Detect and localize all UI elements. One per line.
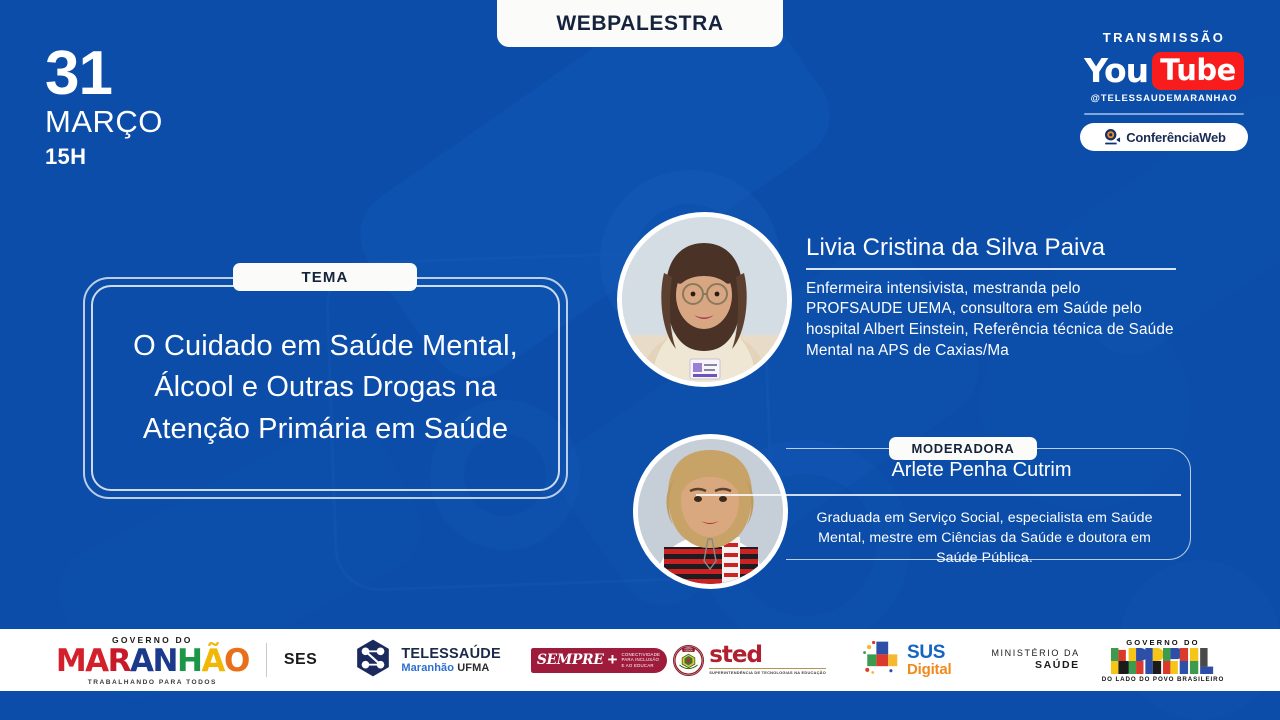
youtube-tube-text: Tube xyxy=(1160,53,1236,87)
theme-title: O Cuidado em Saúde Mental, Álcool e Outr… xyxy=(83,277,568,499)
speaker-photo-inner xyxy=(622,217,787,382)
youtube-you-text: You xyxy=(1084,51,1148,90)
uema-seal-icon: UEMA xyxy=(673,645,704,676)
speaker-info: Livia Cristina da Silva Paiva Enfermeira… xyxy=(806,234,1176,362)
date-hour: 15H xyxy=(45,142,163,172)
sted-underline xyxy=(709,668,826,669)
brasil-top-label: GOVERNO DO xyxy=(1126,638,1199,647)
moderator-divider xyxy=(696,494,1181,496)
sus-line2: Digital xyxy=(907,662,951,677)
transmission-divider xyxy=(1084,113,1244,115)
event-date: 31 MARÇO 15H xyxy=(45,45,163,171)
brasil-wordmark xyxy=(1111,647,1215,674)
sted-subtitle: SUPERINTENDÊNCIA DE TECNOLOGIAS NA EDUCA… xyxy=(709,670,826,675)
moderator-photo-inner xyxy=(638,439,783,584)
logo-telessaude: TELESSAÚDE Maranhão UFMA xyxy=(353,638,501,683)
theme-box: O Cuidado em Saúde Mental, Álcool e Outr… xyxy=(83,277,568,499)
transmission-label: TRANSMISSÃO xyxy=(1072,30,1256,45)
sus-cross-icon xyxy=(860,638,900,683)
sus-line1: SUS xyxy=(907,643,951,662)
webpalestra-label: WEBPALESTRA xyxy=(556,12,723,36)
speaker-bio: Enfermeira intensivista, mestranda pelo … xyxy=(806,279,1176,362)
footer-divider-1 xyxy=(266,643,267,677)
webpalestra-tab: WEBPALESTRA xyxy=(497,0,783,47)
sempre-subtitle: CONECTIVIDADE PARA INCLUSÃO E AO EDUCAR xyxy=(621,652,660,669)
webcam-icon xyxy=(1102,128,1121,147)
youtube-handle: @TELESSAUDEMARANHAO xyxy=(1072,93,1256,104)
telessaude-text: TELESSAÚDE Maranhão UFMA xyxy=(401,646,501,675)
conferenciaweb-label: ConferênciaWeb xyxy=(1126,130,1226,145)
sted-text: sted SUPERINTENDÊNCIA DE TECNOLOGIAS NA … xyxy=(709,645,826,674)
theme-badge-label: TEMA xyxy=(302,269,349,286)
maranhao-wordmark: MARANHÃO xyxy=(56,646,249,677)
sempre-plus-icon: + xyxy=(608,653,618,667)
theme-badge: TEMA xyxy=(233,263,417,291)
telessaude-line1: TELESSAÚDE xyxy=(401,646,501,662)
youtube-logo[interactable]: You Tube xyxy=(1072,51,1256,90)
logo-governo-maranhao: GOVERNO DO MARANHÃO TRABALHANDO PARA TOD… xyxy=(56,635,249,686)
maranhao-bottom-label: TRABALHANDO PARA TODOS xyxy=(88,679,217,686)
logo-sempre-mais: SEMPRE + CONECTIVIDADE PARA INCLUSÃO E A… xyxy=(531,648,667,673)
transmission-block: TRANSMISSÃO You Tube @TELESSAUDEMARANHAO… xyxy=(1072,30,1256,151)
brasil-bottom-label: DO LADO DO POVO BRASILEIRO xyxy=(1102,676,1224,683)
speaker-avatar xyxy=(617,212,792,387)
moderator-avatar xyxy=(633,434,788,589)
moderator-box: MODERADORA Arlete Penha Cutrim Graduada … xyxy=(786,448,1191,560)
ministerio-line1: MINISTÉRIO DA xyxy=(991,648,1079,659)
date-day: 31 xyxy=(45,45,163,102)
logo-sted: UEMA sted SUPERINTENDÊNCIA DE TECNOLOGIA… xyxy=(673,645,826,676)
hexagon-network-icon xyxy=(353,638,393,683)
moderator-name: Arlete Penha Cutrim xyxy=(786,459,1177,482)
date-month: MARÇO xyxy=(45,102,163,142)
logo-ses: SES xyxy=(284,651,318,669)
speaker-divider xyxy=(806,268,1176,270)
sted-wordmark: sted xyxy=(709,645,826,666)
logo-ministerio-saude: MINISTÉRIO DA SAÚDE xyxy=(991,648,1079,672)
moderator-bio: Graduada em Serviço Social, especialista… xyxy=(796,508,1173,568)
telessaude-line2: Maranhão UFMA xyxy=(401,662,501,674)
svg-text:UEMA: UEMA xyxy=(684,648,692,652)
telessaude-ufma: UFMA xyxy=(457,662,489,674)
webinar-poster: WEBPALESTRA 31 MARÇO 15H TRANSMISSÃO You… xyxy=(0,0,1280,720)
sempre-wordmark: SEMPRE xyxy=(537,652,604,668)
moderator-badge-label: MODERADORA xyxy=(911,441,1014,456)
conferenciaweb-badge[interactable]: ConferênciaWeb xyxy=(1080,123,1248,151)
logo-sus-digital: SUS Digital xyxy=(860,638,951,683)
sus-text: SUS Digital xyxy=(907,643,951,678)
speaker-name: Livia Cristina da Silva Paiva xyxy=(806,234,1176,268)
telessaude-maranhao: Maranhão xyxy=(401,662,454,674)
ministerio-line2: SAÚDE xyxy=(1035,659,1080,672)
youtube-tube-box: Tube xyxy=(1152,52,1244,90)
logo-governo-brasil: GOVERNO DO xyxy=(1102,638,1224,683)
moderator-badge: MODERADORA xyxy=(889,437,1037,460)
footer-logos: GOVERNO DO MARANHÃO TRABALHANDO PARA TOD… xyxy=(0,629,1280,691)
